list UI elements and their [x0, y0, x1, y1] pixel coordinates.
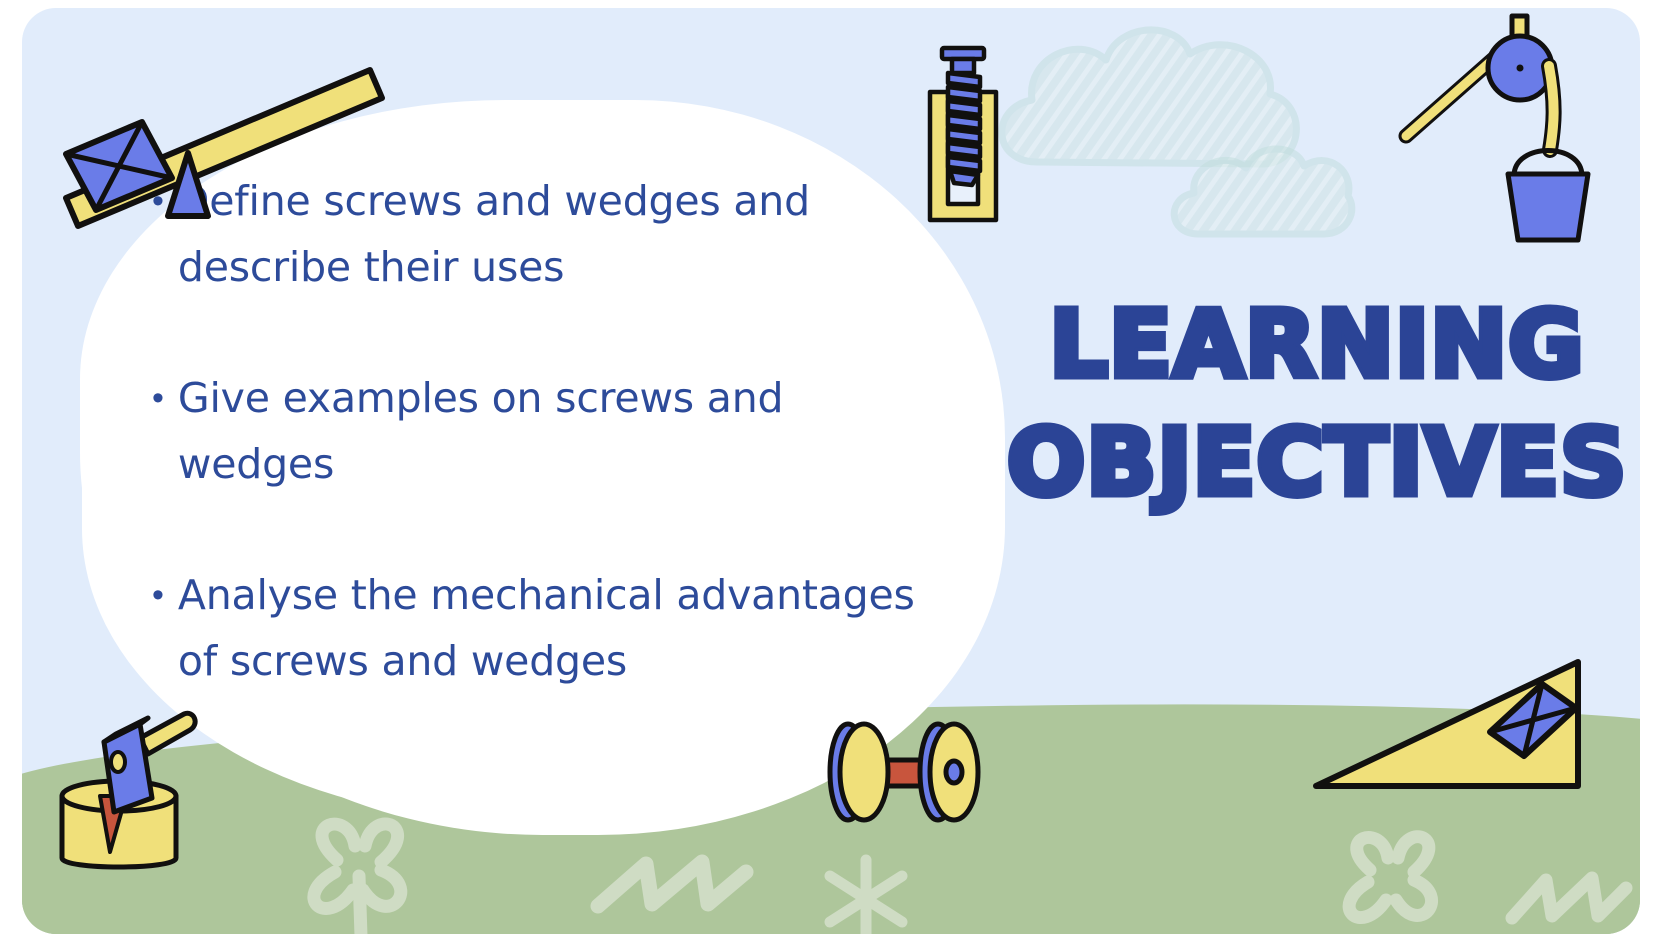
- grass-doodle-icon: [1502, 844, 1632, 934]
- title-line-2: OBJECTIVES: [1007, 404, 1627, 522]
- axe-wedge-splitting-log-icon: [48, 680, 238, 870]
- slide-background-card: • Define screws and wedges and describe …: [22, 8, 1640, 934]
- inclined-plane-with-crate-icon: [1288, 644, 1640, 804]
- bullet-text: Give examples on screws and wedges: [178, 365, 922, 498]
- list-item: • Give examples on screws and wedges: [152, 365, 922, 498]
- grass-doodle-icon: [582, 820, 752, 934]
- slide-canvas: • Define screws and wedges and describe …: [0, 0, 1662, 934]
- title-line-1: LEARNING: [1007, 286, 1627, 404]
- lever-seesaw-icon: [40, 58, 400, 218]
- list-item: • Analyse the mechanical advantages of s…: [152, 562, 922, 695]
- flower-doodle-icon: [1322, 816, 1472, 934]
- objectives-list: • Define screws and wedges and describe …: [152, 168, 922, 758]
- cloud-small-icon: [1162, 138, 1352, 258]
- bullet-marker: •: [152, 578, 164, 612]
- pulley-with-bucket-icon: [1374, 8, 1640, 238]
- screw-in-block-icon: [900, 30, 1010, 225]
- flower-doodle-icon: [812, 848, 922, 934]
- page-title: LEARNING OBJECTIVES: [1007, 286, 1627, 522]
- bullet-text: Analyse the mechanical advantages of scr…: [178, 562, 922, 695]
- wheel-and-axle-icon: [820, 714, 990, 834]
- bullet-marker: •: [152, 381, 164, 415]
